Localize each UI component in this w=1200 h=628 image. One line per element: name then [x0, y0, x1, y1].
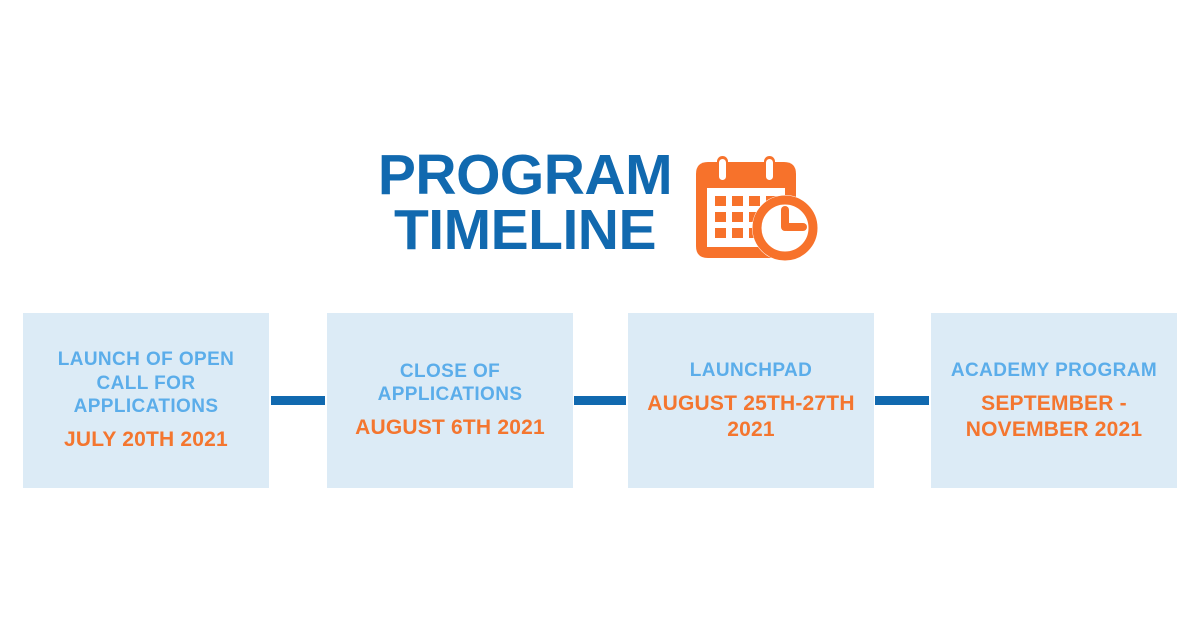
milestone-date: AUGUST 6TH 2021	[355, 415, 545, 441]
milestone-label: ACADEMY PROGRAM	[951, 359, 1157, 382]
page-title: PROGRAM TIMELINE	[378, 148, 672, 259]
calendar-clock-icon	[690, 156, 822, 262]
timeline-milestone-1[interactable]: LAUNCH OF OPEN CALL FOR APPLICATIONS JUL…	[23, 313, 269, 488]
timeline-milestone-2[interactable]: CLOSE OF APPLICATIONS AUGUST 6TH 2021	[327, 313, 573, 488]
timeline-connector-1	[271, 396, 325, 405]
milestone-label: CLOSE OF APPLICATIONS	[337, 360, 563, 406]
page-title-line-1: PROGRAM	[378, 148, 672, 203]
milestone-date: AUGUST 25TH-27TH 2021	[638, 391, 864, 442]
milestone-label: LAUNCHPAD	[690, 359, 813, 382]
timeline-milestone-4[interactable]: ACADEMY PROGRAM SEPTEMBER - NOVEMBER 202…	[931, 313, 1177, 488]
timeline: LAUNCH OF OPEN CALL FOR APPLICATIONS JUL…	[0, 313, 1200, 488]
milestone-label: LAUNCH OF OPEN CALL FOR APPLICATIONS	[33, 348, 259, 418]
timeline-milestone-3[interactable]: LAUNCHPAD AUGUST 25TH-27TH 2021	[628, 313, 874, 488]
timeline-connector-3	[875, 396, 929, 405]
page-header: PROGRAM TIMELINE	[0, 128, 1200, 278]
page-title-line-2: TIMELINE	[378, 203, 672, 258]
timeline-connector-2	[574, 396, 626, 405]
milestone-date: SEPTEMBER - NOVEMBER 2021	[941, 391, 1167, 442]
milestone-date: JULY 20TH 2021	[64, 427, 228, 453]
